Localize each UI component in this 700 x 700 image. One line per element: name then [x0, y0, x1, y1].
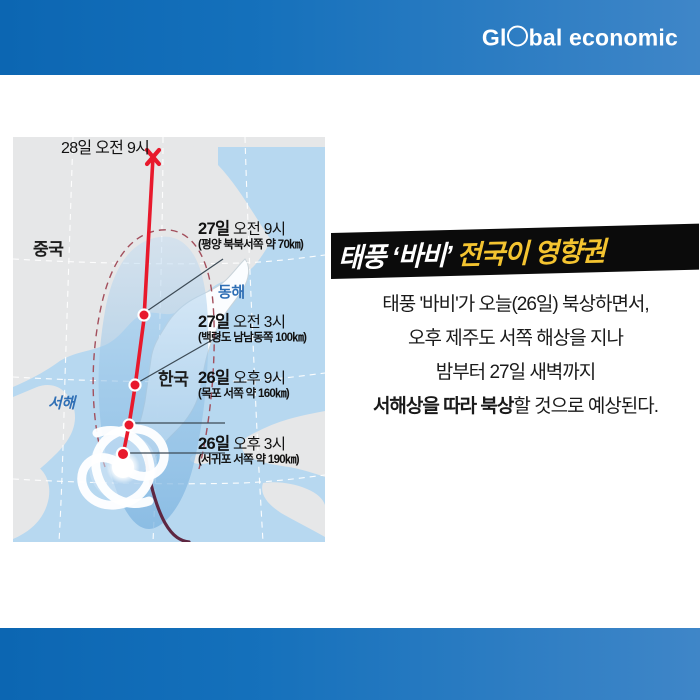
callout-hour: 오전 9시 [229, 221, 285, 238]
map-label-china: 중국 [33, 235, 63, 260]
o-ring-logo-icon [507, 25, 528, 46]
callout-hour: 오후 9시 [229, 370, 285, 387]
brand-logo: Glbal economic [482, 24, 678, 51]
body-line-4-bold: 서해상을 따라 북상 [373, 396, 513, 417]
body-line-2: 오후 제주도 서쪽 해상을 지나 [331, 326, 700, 353]
callout-time-text: 28일 오전 9시 [61, 140, 149, 157]
callout-date: 26일 [198, 435, 229, 453]
headline-banner: 태풍 ‘바비’ 전국이 영향권 [331, 224, 699, 279]
callout-detail: (서귀포 서쪽 약 190㎞) [198, 454, 299, 468]
callout-time: 28일 오전 9시 [61, 140, 149, 158]
body-line-4: 서해상을 따라 북상할 것으로 예상된다. [331, 394, 700, 421]
callout-forecast-27-0300: 27일 오전 3시 (백령도 남남동쪽 100㎞) [198, 313, 306, 346]
logo-text-part1: Gl [482, 24, 507, 51]
body-line-4-rest: 할 것으로 예상된다. [513, 396, 658, 417]
callout-date: 27일 [198, 220, 229, 238]
callout-detail: (목포 서쪽 약 160㎞) [198, 388, 289, 402]
callout-date: 27일 [198, 313, 229, 331]
headline-yellow-part: 전국이 영향권 [451, 237, 605, 271]
body-copy: 태풍 '바비'가 오늘(26일) 북상하면서, 오후 제주도 서쪽 해상을 지나… [331, 292, 700, 421]
page-header: Glbal economic [0, 0, 700, 75]
body-line-1: 태풍 '바비'가 오늘(26일) 북상하면서, [331, 292, 700, 319]
callout-hour: 오후 3시 [229, 436, 285, 453]
headline-white-part: 태풍 ‘바비’ [338, 240, 451, 273]
callout-time: 26일 오후 9시 [198, 369, 289, 387]
callout-detail: (백령도 남남동쪽 100㎞) [198, 332, 306, 346]
callout-forecast-26-2100: 26일 오후 9시 (목포 서쪽 약 160㎞) [198, 369, 289, 402]
callout-detail: (평양 북북서쪽 약 70㎞) [198, 239, 303, 253]
callout-hour: 오전 3시 [229, 314, 285, 331]
headline-text: 태풍 ‘바비’ 전국이 영향권 [338, 230, 605, 276]
body-line-3: 밤부터 27일 새벽까지 [331, 360, 700, 387]
callout-date: 26일 [198, 369, 229, 387]
callout-time: 27일 오전 3시 [198, 313, 306, 331]
map-label-yellow-sea: 서해 [48, 392, 75, 413]
callout-time: 27일 오전 9시 [198, 220, 303, 238]
logo-text-part2: bal economic [529, 24, 678, 51]
callout-time: 26일 오후 3시 [198, 435, 299, 453]
page-footer [0, 628, 700, 700]
callout-forecast-27-0900: 27일 오전 9시 (평양 북북서쪽 약 70㎞) [198, 220, 303, 253]
infographic-card: Glbal economic [0, 0, 700, 700]
map-label-east-sea: 동해 [218, 281, 245, 302]
callout-forecast-28-0900: 28일 오전 9시 [61, 140, 149, 158]
map-label-korea: 한국 [158, 365, 188, 390]
callout-current-26-1500: 26일 오후 3시 (서귀포 서쪽 약 190㎞) [198, 435, 299, 468]
typhoon-track-map: 중국 한국 서해 동해 28일 오전 9시 27일 오전 9시 (평양 북북서쪽… [13, 137, 325, 542]
